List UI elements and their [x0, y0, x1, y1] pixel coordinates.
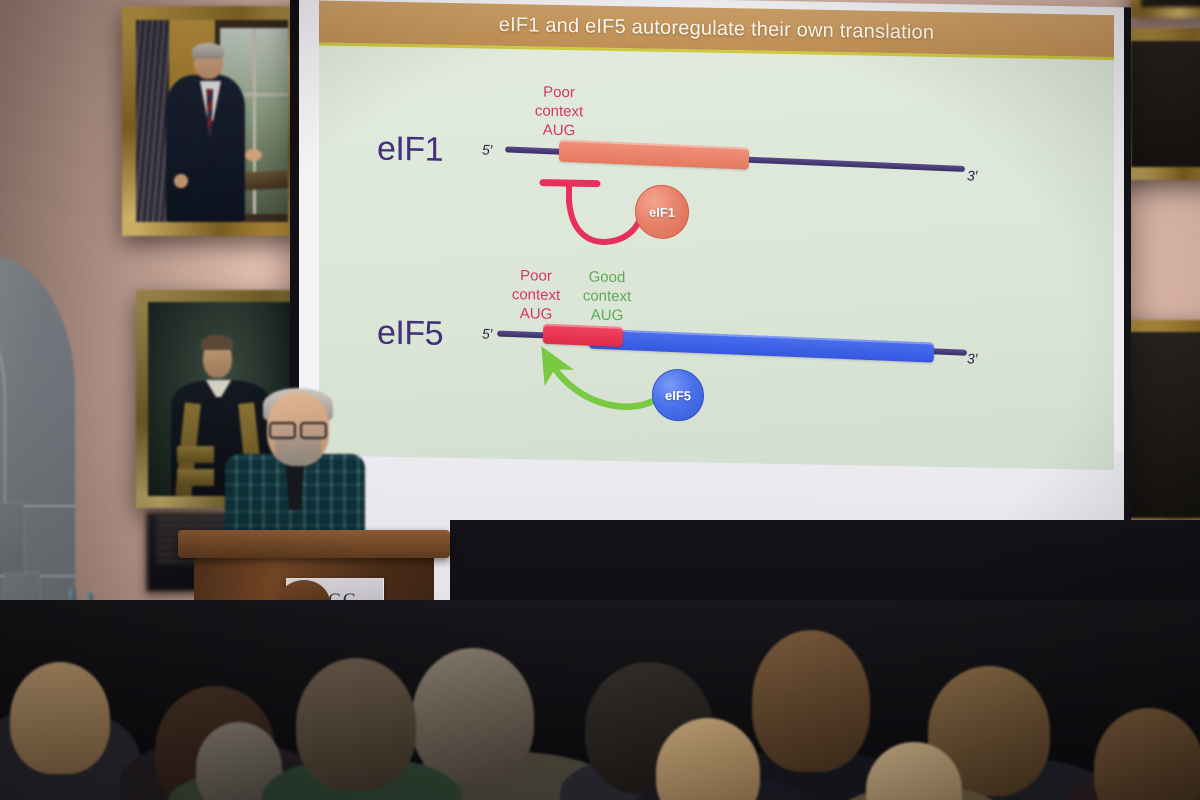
three-prime-label-eif1: 3′	[967, 167, 977, 183]
audience-member	[1094, 708, 1200, 800]
gene-label-eif5: eIF5	[377, 314, 443, 354]
context-line-3: AUG	[565, 305, 649, 326]
frame-right-top	[1130, 0, 1200, 18]
factor-circle-eif1: eIF1	[635, 184, 689, 239]
context-line-1: Good	[565, 267, 649, 288]
audience-member	[10, 662, 110, 774]
factor-circle-eif5: eIF5	[652, 369, 704, 422]
audience	[0, 600, 1200, 800]
five-prime-label-eif5: 5′	[482, 326, 492, 342]
audience-member	[752, 630, 870, 772]
slide-title-bar: eIF1 and eIF5 autoregulate their own tra…	[319, 1, 1114, 61]
context-label-eif1-poor: Poor context AUG	[514, 82, 604, 141]
audience-member	[296, 658, 416, 790]
factor-label-eif5: eIF5	[665, 387, 691, 402]
audience-member	[412, 648, 534, 784]
context-line-2: context	[565, 286, 649, 307]
factor-label-eif1: eIF1	[649, 204, 675, 219]
context-line-1: Poor	[514, 82, 604, 103]
orf-bar-eif1	[559, 140, 749, 170]
lecture-hall-scene: eIF1 and eIF5 autoregulate their own tra…	[0, 0, 1200, 800]
orf-bar-eif5-main	[589, 329, 934, 363]
uorf-bar-eif5	[543, 324, 623, 347]
context-line-3: AUG	[514, 120, 604, 141]
eif1-regulation-overlay	[319, 1, 1114, 471]
context-line-2: context	[514, 101, 604, 122]
five-prime-label-eif1: 5′	[482, 142, 492, 158]
context-label-eif5-good: Good context AUG	[565, 267, 649, 326]
portrait-modern-frame	[122, 6, 302, 236]
eif5-regulation-overlay	[319, 1, 1114, 471]
gene-label-eif1: eIF1	[377, 130, 443, 170]
speaker-glasses	[269, 422, 327, 435]
slide-title: eIF1 and eIF5 autoregulate their own tra…	[499, 13, 934, 44]
three-prime-label-eif5: 3′	[967, 350, 977, 366]
presentation-slide: eIF1 and eIF5 autoregulate their own tra…	[319, 1, 1114, 471]
